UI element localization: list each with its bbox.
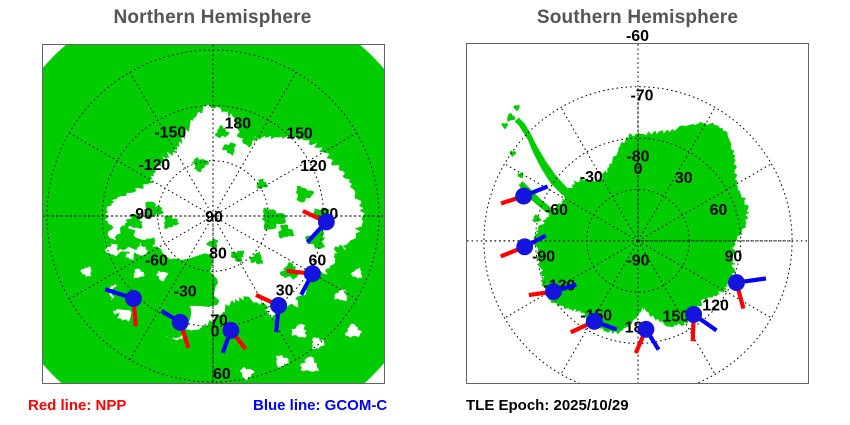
longitude-label: 150 xyxy=(663,308,690,325)
longitude-label: -150 xyxy=(154,124,186,141)
satellite-position-dot xyxy=(638,321,655,338)
longitude-label: -30 xyxy=(174,284,197,301)
antarctic-island xyxy=(507,113,516,122)
longitude-label: 30 xyxy=(276,283,294,300)
southern-plot-frame: 030-3060-6090-90120-120150-150180-60-70-… xyxy=(466,43,809,384)
satellite-position-dot xyxy=(270,297,287,314)
antarctic-island xyxy=(513,105,520,111)
legend-gcom-label: Blue line: GCOM-C xyxy=(253,397,387,414)
northern-hemisphere-panel: Northern Hemisphere 180-150150-120120-90… xyxy=(0,0,425,390)
legend-tle-epoch-label: TLE Epoch: 2025/10/29 xyxy=(466,397,629,414)
antarctic-island xyxy=(501,123,508,129)
longitude-label: 90 xyxy=(725,249,743,266)
latitude-label: 60 xyxy=(213,366,231,383)
latitude-label-outer: -60 xyxy=(425,28,850,46)
satellite-position-dot xyxy=(318,214,335,231)
longitude-label: 120 xyxy=(702,297,729,314)
southern-panel-title: Southern Hemisphere xyxy=(425,7,850,29)
southern-map-svg: 030-3060-6090-90120-120150-150180-60-70-… xyxy=(467,44,808,383)
satellite-position-dot xyxy=(545,283,562,300)
longitude-label: -60 xyxy=(545,202,568,219)
legend-row: Red line: NPP Blue line: GCOM-C TLE Epoc… xyxy=(0,392,850,425)
longitude-label: -30 xyxy=(580,169,603,186)
satellite-position-dot xyxy=(222,322,239,339)
longitude-label: 60 xyxy=(710,202,728,219)
polar-island xyxy=(231,251,244,263)
longitude-label: 150 xyxy=(286,125,313,142)
latitude-label: 90 xyxy=(205,209,223,226)
satellite-marker xyxy=(636,321,659,353)
satellite-position-dot xyxy=(516,238,533,255)
polar-island xyxy=(257,179,268,189)
satellite-position-dot xyxy=(304,265,321,282)
satellite-position-dot xyxy=(125,290,142,307)
longitude-label: -90 xyxy=(130,206,153,223)
antarctic-island xyxy=(532,214,542,222)
longitude-label: -90 xyxy=(532,249,555,266)
longitude-label: 30 xyxy=(675,170,693,187)
satellite-position-dot xyxy=(515,188,532,205)
longitude-label: -60 xyxy=(145,253,168,270)
latitude-label: 80 xyxy=(209,246,227,263)
latitude-label: -70 xyxy=(630,88,653,105)
northern-plot-frame: 180-150150-120120-9090-6060-303009080706… xyxy=(42,44,385,384)
northern-map-svg: 180-150150-120120-9090-6060-303009080706… xyxy=(43,45,384,383)
legend-npp-label: Red line: NPP xyxy=(28,397,126,414)
polar-island xyxy=(191,157,208,173)
south-map-group: 030-3060-6090-90120-120150-150180-60-70-… xyxy=(467,44,808,383)
longitude-label: 120 xyxy=(300,158,327,175)
antarctic-island xyxy=(517,172,523,178)
southern-hemisphere-panel: Southern Hemisphere 030-3060-6090-90120-… xyxy=(425,0,850,390)
satellite-position-dot xyxy=(172,314,189,331)
northern-panel-title: Northern Hemisphere xyxy=(0,7,425,29)
longitude-label: -120 xyxy=(138,157,170,174)
longitude-label: 180 xyxy=(225,116,252,133)
satellite-position-dot xyxy=(685,306,702,323)
arctic-island xyxy=(164,215,179,229)
latitude-label: -90 xyxy=(627,253,650,270)
satellite-marker xyxy=(728,274,766,308)
latitude-label: -80 xyxy=(627,148,650,165)
north-map-group: 180-150150-120120-9090-6060-303009080706… xyxy=(43,45,384,383)
arctic-island xyxy=(140,237,156,251)
satellite-position-dot xyxy=(586,313,603,330)
satellite-position-dot xyxy=(728,274,745,291)
polar-island xyxy=(278,224,294,238)
polar-island xyxy=(222,142,236,155)
polar-island xyxy=(249,251,263,264)
polar-island xyxy=(295,186,314,203)
